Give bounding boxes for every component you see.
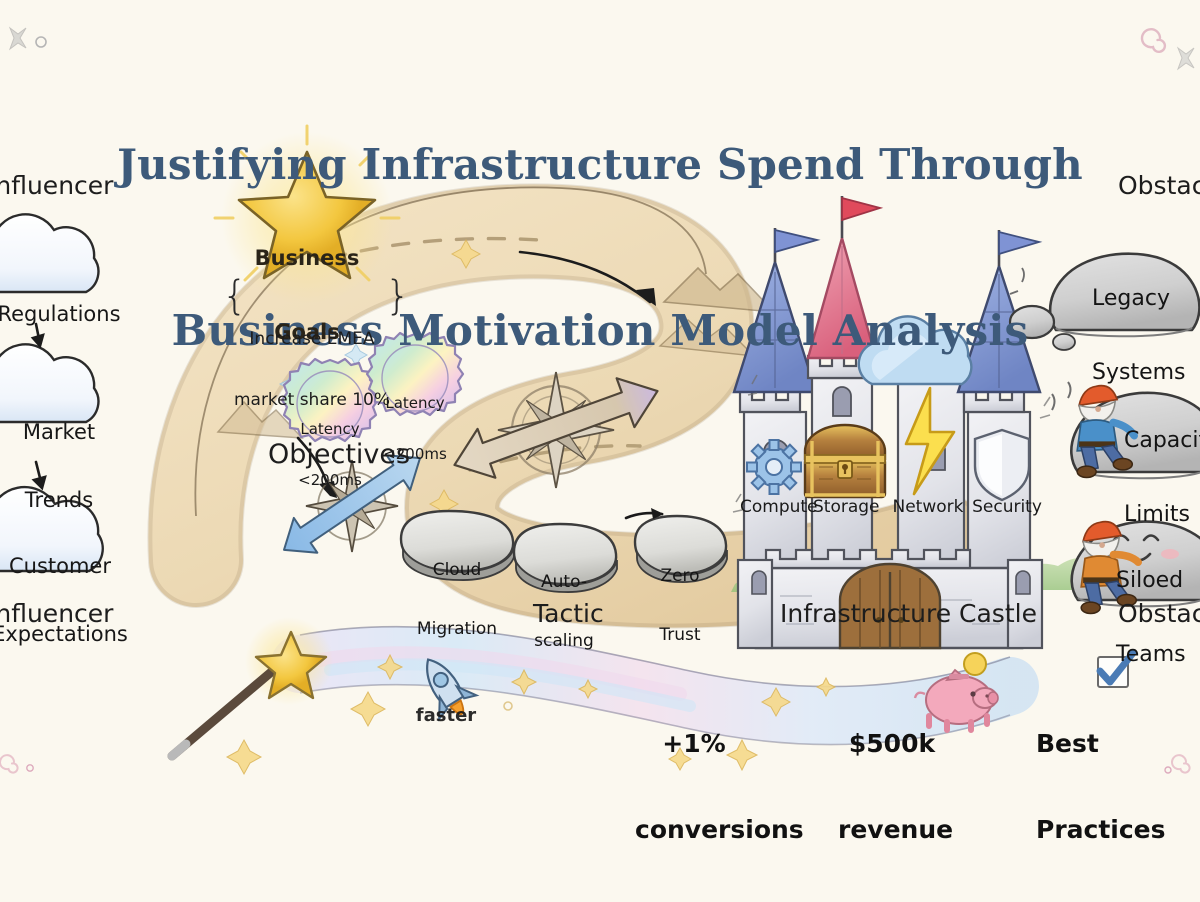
rocket-label: faster — [398, 706, 494, 725]
influencer-customer-expectations[interactable]: Customer Expectations — [0, 510, 140, 691]
tactic-autoscaling-line2: scaling — [514, 632, 614, 652]
influencer-customer-expectations-label2: Expectations — [0, 623, 140, 646]
section-label-influencer-top: Influencer — [0, 172, 113, 199]
tactic-zero-trust-line2: Trust — [640, 626, 720, 646]
castle-feature-storage[interactable]: Storage — [813, 498, 879, 516]
tactic-autoscaling-line1: Auto- — [514, 573, 614, 593]
tactic-zero-trust-line1: Zero — [640, 567, 720, 587]
outcome-conversions[interactable]: +1% conversions — [635, 672, 753, 902]
business-goals-line1: Business — [242, 246, 372, 271]
castle-feature-compute[interactable]: Compute — [740, 498, 812, 516]
castle-feature-security[interactable]: Security — [970, 498, 1044, 516]
diagram-canvas: Justifying Infrastructure Spend Through … — [0, 0, 1200, 800]
outcome-revenue[interactable]: $500k revenue — [838, 672, 946, 902]
tactic-zero-trust[interactable]: Zero Trust — [640, 528, 720, 684]
objective-badge-1-line2: <200ms — [285, 472, 375, 489]
objective-badge-2-line1: Latency — [370, 395, 460, 412]
obstacle-siloed-teams-label1: Siloed — [1116, 569, 1200, 594]
influencer-regulations[interactable]: Regulations — [0, 258, 134, 371]
business-goal-detail-line1: Increase EMEA — [232, 329, 392, 349]
outcome-conversions-label: conversions — [635, 816, 753, 845]
outcome-conversions-value: +1% — [635, 730, 753, 759]
tactic-cloud-migration-line1: Cloud — [404, 561, 510, 581]
best-practices-label[interactable]: Best Practices — [1036, 672, 1166, 902]
text-layer: Justifying Infrastructure Spend Through … — [0, 0, 1200, 800]
influencer-regulations-label: Regulations — [0, 303, 134, 326]
outcome-revenue-value: $500k — [838, 730, 946, 759]
objective-badge-1-line1: Latency — [285, 421, 375, 438]
outcome-revenue-label: revenue — [838, 816, 946, 845]
obstacle-legacy-systems-label1: Legacy — [1092, 287, 1200, 312]
obstacle-capacity-limits-label1: Capacity — [1124, 429, 1200, 454]
page-title-line2: Business Motivation Model Analysis — [0, 303, 1200, 358]
obstacle-siloed-teams-label2: Teams — [1116, 643, 1200, 668]
influencer-customer-expectations-label1: Customer — [0, 555, 140, 578]
tactic-cloud-migration-line2: Migration — [404, 620, 510, 640]
page-title: Justifying Infrastructure Spend Through … — [0, 26, 1200, 470]
section-label-tactic: Tactic — [533, 600, 604, 627]
tactic-cloud-migration[interactable]: Cloud Migration — [404, 522, 510, 678]
best-practices-line1: Best — [1036, 730, 1166, 759]
page-title-line1: Justifying Infrastructure Spend Through — [0, 137, 1200, 192]
influencer-market-trends-label1: Market — [0, 421, 134, 444]
section-label-infrastructure-castle: Infrastructure Castle — [780, 600, 1037, 627]
objective-badge-2[interactable]: Latency <200ms — [370, 360, 460, 498]
section-label-objectives: Objectives — [268, 440, 410, 469]
influencer-market-trends-label2: Trends — [0, 489, 134, 512]
section-label-obstacle-top: Obstacle — [1118, 172, 1200, 199]
castle-feature-network[interactable]: Network — [890, 498, 966, 516]
best-practices-line2: Practices — [1036, 816, 1166, 845]
